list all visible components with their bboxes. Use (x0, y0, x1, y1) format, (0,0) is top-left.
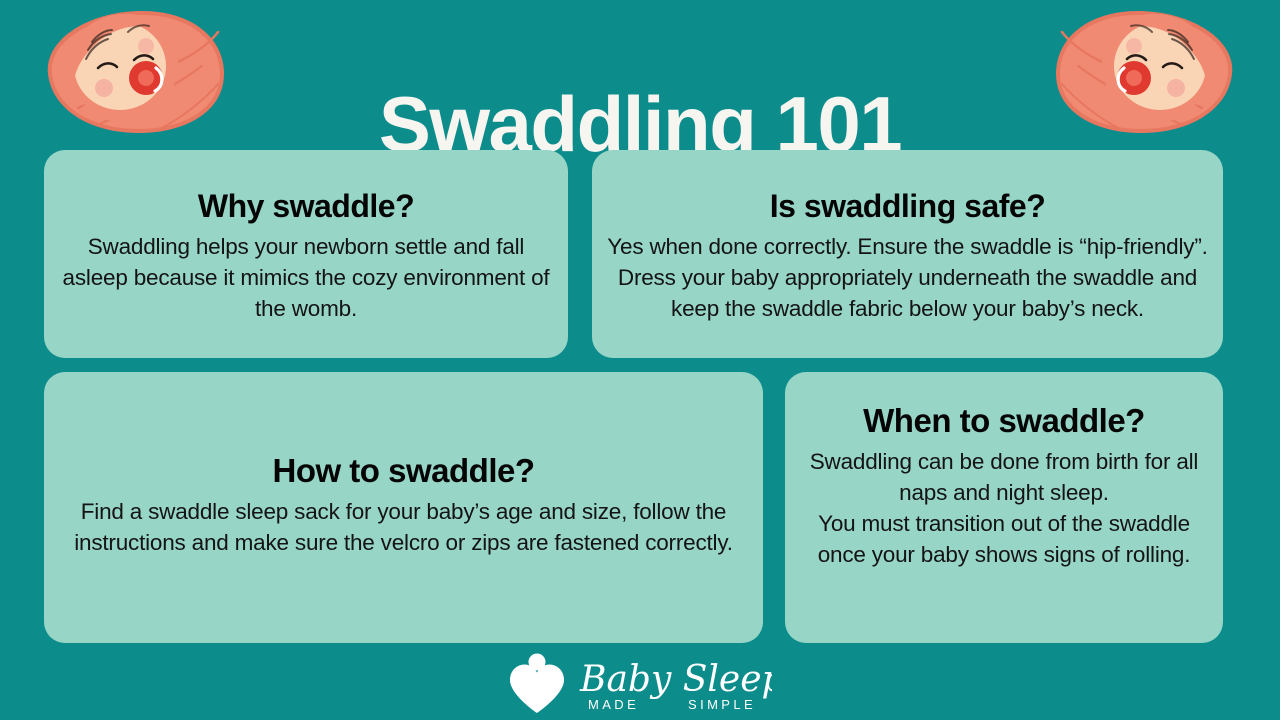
card-body: Find a swaddle sleep sack for your baby’… (58, 496, 749, 558)
brand-wordmark: Baby Sleep MADE SIMPLE (576, 653, 772, 715)
card-body: Yes when done correctly. Ensure the swad… (606, 231, 1209, 324)
card-how-to-swaddle: How to swaddle? Find a swaddle sleep sac… (44, 372, 763, 643)
infographic-canvas: Swaddling 101 (0, 0, 1280, 720)
card-title: Is swaddling safe? (606, 185, 1209, 227)
card-title: When to swaddle? (799, 400, 1209, 442)
heart-parent-child-icon (508, 653, 566, 715)
card-is-swaddling-safe: Is swaddling safe? Yes when done correct… (592, 150, 1223, 358)
card-why-swaddle: Why swaddle? Swaddling helps your newbor… (44, 150, 568, 358)
brand-script-text: Baby Sleep (579, 659, 772, 700)
card-body: Swaddling helps your newborn settle and … (58, 231, 554, 324)
brand-simple-text: SIMPLE (688, 697, 756, 712)
card-title: Why swaddle? (58, 185, 554, 227)
card-title: How to swaddle? (58, 450, 749, 492)
brand-logo: Baby Sleep MADE SIMPLE (0, 648, 1280, 720)
brand-made-text: MADE (588, 697, 639, 712)
swaddled-baby-icon (1052, 8, 1238, 136)
header: Swaddling 101 (0, 0, 1280, 142)
card-body: Swaddling can be done from birth for all… (799, 446, 1209, 570)
swaddled-baby-icon (42, 8, 228, 136)
card-when-to-swaddle: When to swaddle? Swaddling can be done f… (785, 372, 1223, 643)
